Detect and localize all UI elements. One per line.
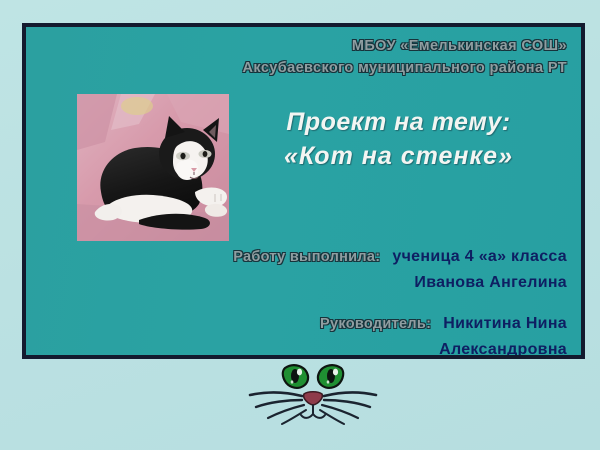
school-header: МБОУ «Емелькинская СОШ» Аксубаевского му… — [26, 35, 579, 79]
supervisor-value-line-2: Александровна — [439, 337, 567, 359]
author-value-line-2: Иванова Ангелина — [414, 270, 567, 295]
supervisor-label: Руководитель: — [320, 316, 431, 332]
presentation-slide: МБОУ «Емелькинская СОШ» Аксубаевского му… — [0, 0, 600, 450]
cat-photo — [77, 94, 229, 241]
supervisor-value-line-1: Никитина Нина — [443, 315, 567, 332]
author-label: Работу выполнила: — [233, 249, 380, 265]
author-credit: Работу выполнила:ученица 4 «а» класса Ив… — [26, 244, 567, 295]
author-value-line-1: ученица 4 «а» класса — [392, 248, 567, 265]
supervisor-credit-row-1: Руководитель:Никитина Нина — [26, 311, 567, 337]
school-name-line-2: Аксубаевского муниципального района РТ — [26, 57, 567, 79]
supervisor-credit: Руководитель:Никитина Нина Александровна — [26, 311, 567, 359]
project-title: Проект на тему: «Кот на стенке» — [226, 105, 579, 173]
school-name-line-1: МБОУ «Емелькинская СОШ» — [26, 35, 567, 57]
cat-face-icon — [238, 362, 388, 434]
title-panel: МБОУ «Емелькинская СОШ» Аксубаевского му… — [22, 23, 585, 359]
project-title-line-1: Проект на тему: — [226, 105, 571, 139]
author-credit-row-2: Иванова Ангелина — [26, 270, 567, 295]
credits-block: Работу выполнила:ученица 4 «а» класса Ив… — [26, 244, 579, 359]
project-title-line-2: «Кот на стенке» — [226, 139, 571, 173]
author-credit-row-1: Работу выполнила:ученица 4 «а» класса — [26, 244, 567, 270]
supervisor-credit-row-2: Александровна — [26, 337, 567, 359]
